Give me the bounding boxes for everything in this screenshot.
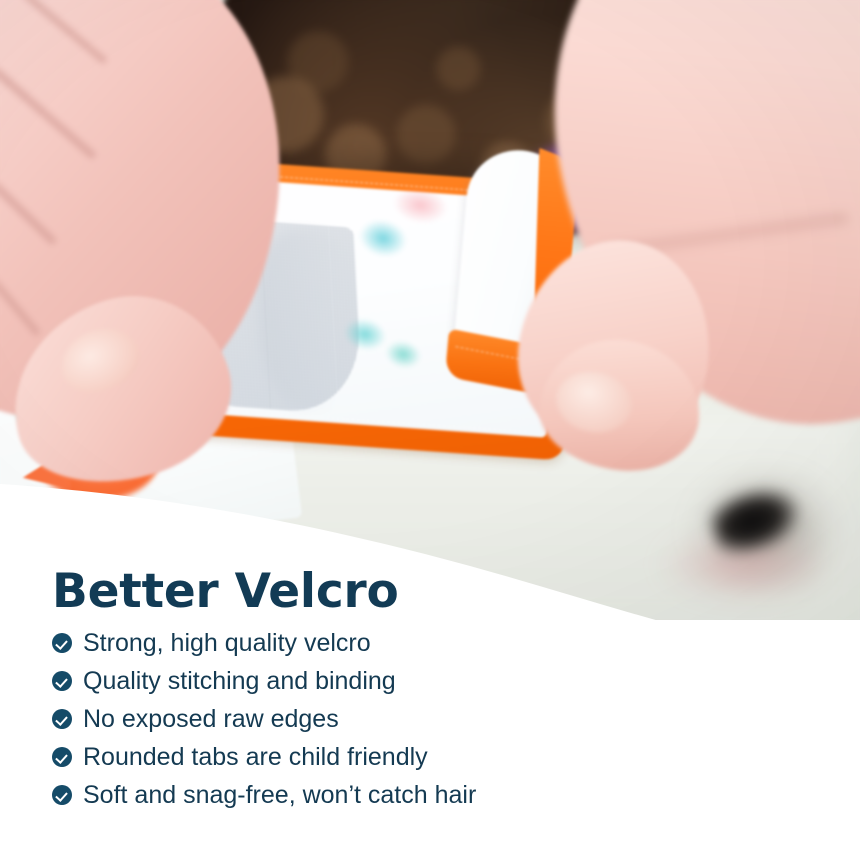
- check-circle-icon: [52, 747, 72, 767]
- page-title: Better Velcro: [52, 568, 399, 615]
- list-item-label: Soft and snag-free, won’t catch hair: [83, 783, 476, 808]
- text-content: Better Velcro Strong, high quality velcr…: [0, 560, 860, 860]
- check-circle-icon: [52, 709, 72, 729]
- list-item: Rounded tabs are child friendly: [52, 738, 476, 776]
- list-item-label: Strong, high quality velcro: [83, 631, 371, 656]
- list-item: Strong, high quality velcro: [52, 624, 476, 662]
- list-item-label: Rounded tabs are child friendly: [83, 745, 428, 770]
- list-item-label: Quality stitching and binding: [83, 669, 396, 694]
- list-item-label: No exposed raw edges: [83, 707, 339, 732]
- finger-crease: [0, 0, 108, 65]
- finger-crease: [0, 0, 97, 160]
- list-item: No exposed raw edges: [52, 700, 476, 738]
- feature-list: Strong, high quality velcro Quality stit…: [52, 624, 476, 814]
- list-item: Soft and snag-free, won’t catch hair: [52, 776, 476, 814]
- product-photo: [0, 0, 860, 620]
- check-circle-icon: [52, 633, 72, 653]
- list-item: Quality stitching and binding: [52, 662, 476, 700]
- check-circle-icon: [52, 785, 72, 805]
- infographic-canvas: Better Velcro Strong, high quality velcr…: [0, 0, 860, 860]
- check-circle-icon: [52, 671, 72, 691]
